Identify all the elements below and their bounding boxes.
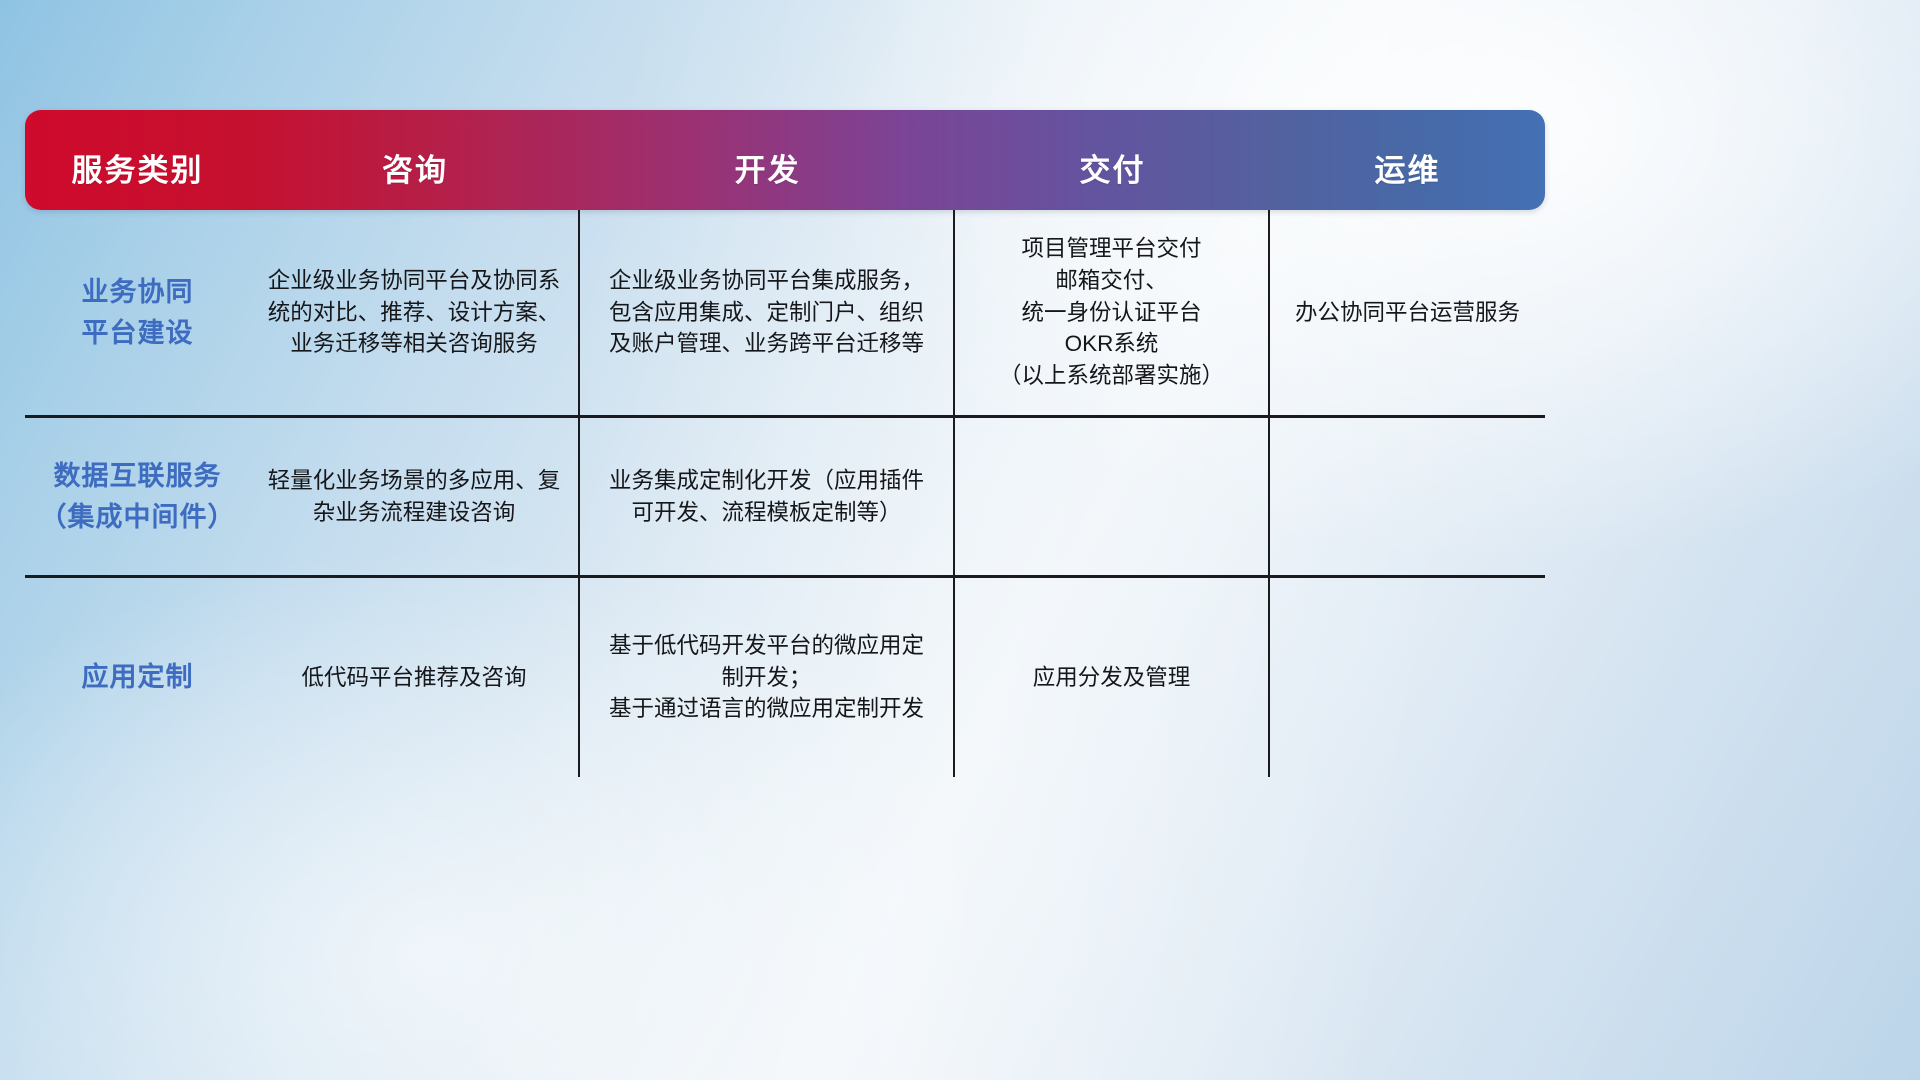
row-development-cell: 基于低代码开发平台的微应用定 制开发； 基于通过语言的微应用定制开发 [580, 578, 955, 777]
row-operations-text: 办公协同平台运营服务 [1295, 297, 1520, 329]
service-matrix-panel: 服务类别 咨询 开发 交付 运维 业务协同 平台建设 企业级业务协同平台及协同系… [25, 110, 1545, 777]
row-category-label: 业务协同 平台建设 [82, 272, 194, 353]
row-development-text: 基于低代码开发平台的微应用定 制开发； 基于通过语言的微应用定制开发 [609, 630, 924, 726]
row-category-cell: 应用定制 [25, 578, 250, 777]
row-operations-cell [1270, 418, 1545, 575]
column-header-category-label: 服务类别 [72, 145, 204, 190]
row-operations-cell: 办公协同平台运营服务 [1270, 210, 1545, 415]
row-category-label: 应用定制 [82, 657, 194, 698]
table-row: 数据互联服务 （集成中间件） 轻量化业务场景的多应用、复 杂业务流程建设咨询 业… [25, 418, 1545, 578]
column-header-operations-label: 运维 [1375, 145, 1441, 190]
column-header-development-label: 开发 [735, 145, 801, 190]
row-category-label: 数据互联服务 （集成中间件） [40, 456, 236, 537]
row-delivery-cell [955, 418, 1270, 575]
column-header-consulting: 咨询 [250, 110, 580, 210]
row-consulting-cell: 企业级业务协同平台及协同系 统的对比、推荐、设计方案、 业务迁移等相关咨询服务 [250, 210, 580, 415]
column-header-delivery-label: 交付 [1080, 145, 1146, 190]
row-development-text: 企业级业务协同平台集成服务， 包含应用集成、定制门户、组织 及账户管理、业务跨平… [609, 265, 924, 361]
row-development-cell: 业务集成定制化开发（应用插件 可开发、流程模板定制等） [580, 418, 955, 575]
row-consulting-cell: 轻量化业务场景的多应用、复 杂业务流程建设咨询 [250, 418, 580, 575]
row-delivery-text: 应用分发及管理 [1033, 662, 1191, 694]
row-consulting-text: 企业级业务协同平台及协同系 统的对比、推荐、设计方案、 业务迁移等相关咨询服务 [268, 265, 561, 361]
row-operations-cell [1270, 578, 1545, 777]
row-consulting-text: 轻量化业务场景的多应用、复 杂业务流程建设咨询 [268, 465, 561, 529]
row-consulting-text: 低代码平台推荐及咨询 [301, 662, 526, 694]
table-header-row: 服务类别 咨询 开发 交付 运维 [25, 110, 1545, 210]
row-delivery-cell: 项目管理平台交付 邮箱交付、 统一身份认证平台 OKR系统 （以上系统部署实施） [955, 210, 1270, 415]
column-header-operations: 运维 [1270, 110, 1545, 210]
row-consulting-cell: 低代码平台推荐及咨询 [250, 578, 580, 777]
row-delivery-text: 项目管理平台交付 邮箱交付、 统一身份认证平台 OKR系统 （以上系统部署实施） [999, 233, 1224, 393]
column-header-category: 服务类别 [25, 110, 250, 210]
column-header-consulting-label: 咨询 [382, 145, 448, 190]
table-row: 业务协同 平台建设 企业级业务协同平台及协同系 统的对比、推荐、设计方案、 业务… [25, 210, 1545, 418]
row-category-cell: 业务协同 平台建设 [25, 210, 250, 415]
column-header-delivery: 交付 [955, 110, 1270, 210]
row-development-cell: 企业级业务协同平台集成服务， 包含应用集成、定制门户、组织 及账户管理、业务跨平… [580, 210, 955, 415]
row-development-text: 业务集成定制化开发（应用插件 可开发、流程模板定制等） [609, 465, 924, 529]
table-row: 应用定制 低代码平台推荐及咨询 基于低代码开发平台的微应用定 制开发； 基于通过… [25, 578, 1545, 777]
table-body: 业务协同 平台建设 企业级业务协同平台及协同系 统的对比、推荐、设计方案、 业务… [25, 210, 1545, 777]
row-category-cell: 数据互联服务 （集成中间件） [25, 418, 250, 575]
row-delivery-cell: 应用分发及管理 [955, 578, 1270, 777]
column-header-development: 开发 [580, 110, 955, 210]
